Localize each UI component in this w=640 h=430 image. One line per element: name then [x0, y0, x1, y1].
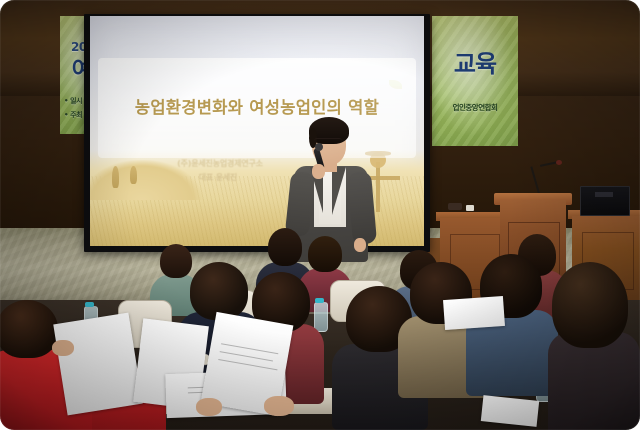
- attendee-hand: [264, 396, 294, 416]
- podium-microphone-icon: [556, 160, 562, 165]
- handout-paper: [443, 296, 505, 330]
- attendee-hair: [308, 236, 342, 272]
- attendee-hair: [268, 228, 302, 266]
- speaker-hand-left: [312, 164, 325, 179]
- speaker-lapel-right: [332, 167, 346, 215]
- microphone-head-icon: [315, 143, 323, 151]
- attendee-hair: [0, 300, 58, 358]
- banner-right-organization: 업인중앙연합회: [432, 102, 518, 113]
- attendee-hand: [196, 398, 222, 416]
- banner-right: 교육 업인중앙연합회: [432, 16, 518, 146]
- list-item: [548, 262, 640, 430]
- table-object-light: [466, 205, 474, 211]
- lecture-hall-photo: 2016년 여성 • 일시 : 201 • 주최 : 교육 업인중앙연합회 농업…: [0, 0, 640, 430]
- speaker-description: dark gray suit jacket, white shirt: [286, 112, 287, 113]
- speaker-hand-right: [354, 238, 366, 252]
- banner-right-glow: [432, 16, 518, 146]
- laptop-screen-glint: [595, 192, 613, 197]
- attendee-hair: [552, 262, 628, 348]
- handout-paper: [53, 313, 142, 416]
- laptop-icon: [580, 186, 630, 216]
- attendee-hand: [52, 340, 74, 356]
- speaker-arm-right: [347, 171, 377, 245]
- banner-right-headline: 교육: [432, 44, 518, 79]
- table-object-dark: [448, 203, 462, 210]
